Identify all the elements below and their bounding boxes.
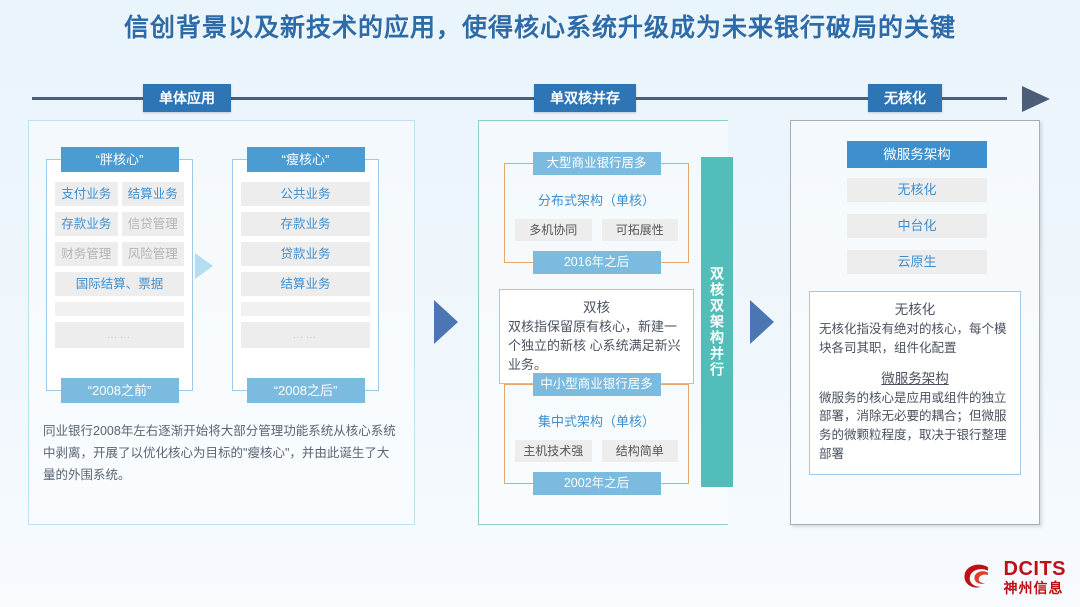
core-frame-thin: “瘦核心” 公共业务 存款业务 贷款业务 结算业务 …… “2008之后” xyxy=(232,159,379,391)
core-row: 国际结算、票据 xyxy=(55,272,184,296)
core-row: 结算业务 xyxy=(241,272,370,296)
connector-arrow-icon-1 xyxy=(434,300,458,344)
core-row: 存款业务 xyxy=(241,212,370,236)
core-row: 支付业务 结算业务 xyxy=(55,182,184,206)
coreless-note-title-2: 微服务架构 xyxy=(819,367,1011,387)
core-row: 贷款业务 xyxy=(241,242,370,266)
core-column-fat: “胖核心” 支付业务 结算业务 存款业务 信贷管理 财务管理 风险管理 国际结算… xyxy=(46,159,193,391)
core-chip[interactable]: 结算业务 xyxy=(122,182,185,206)
box-cap-top: 大型商业银行居多 xyxy=(533,152,661,175)
coreless-note: 无核化 无核化指没有绝对的核心，每个模块各司其职，组件化配置 微服务架构 微服务… xyxy=(809,291,1021,475)
coreless-note-body-2: 微服务的核心是应用或组件的独立部署，消除无必要的耦合；但微服务的微颗粒程度，取决… xyxy=(819,389,1011,464)
core-chip-blank xyxy=(241,302,370,316)
logo-name-en: DCITS xyxy=(1004,559,1067,579)
box-chip[interactable]: 多机协同 xyxy=(515,219,592,241)
dual-core-vertical-banner: 双核双架构并行 xyxy=(701,157,733,487)
core-row: …… xyxy=(55,322,184,348)
panel-dual-core: 大型商业银行居多 分布式架构（单核） 多机协同 可拓展性 2016年之后 双核 … xyxy=(478,120,728,525)
core-row xyxy=(55,302,184,316)
page-title: 信创背景以及新技术的应用，使得核心系统升级成为未来银行破局的关键 xyxy=(0,8,1080,44)
core-chip[interactable]: 财务管理 xyxy=(55,242,118,266)
coreless-chip[interactable]: 云原生 xyxy=(847,250,987,274)
core-chip[interactable]: 支付业务 xyxy=(55,182,118,206)
logo-text: DCITS 神州信息 xyxy=(1004,559,1067,595)
dual-core-box-small-bank: 中小型商业银行居多 集中式架构（单核） 主机技术强 结构简单 2002年之后 xyxy=(504,384,689,484)
logo-name-cn: 神州信息 xyxy=(1004,581,1067,595)
panel-monolithic-note: 同业银行2008年左右逐渐开始将大部分管理功能系统从核心系统中剥离，开展了以优化… xyxy=(43,421,400,487)
timeline-arrow-icon xyxy=(1022,86,1050,112)
brand-logo: DCITS 神州信息 xyxy=(961,559,1067,595)
box-chip[interactable]: 可拓展性 xyxy=(602,219,679,241)
dual-core-note-title: 双核 xyxy=(508,296,685,316)
timeline: 单体应用 单双核并存 无核化 xyxy=(32,84,1050,114)
core-chip[interactable]: 贷款业务 xyxy=(241,242,370,266)
core-chip[interactable]: 存款业务 xyxy=(55,212,118,236)
dual-core-box-large-bank: 大型商业银行居多 分布式架构（单核） 多机协同 可拓展性 2016年之后 xyxy=(504,163,689,263)
core-row: 存款业务 信贷管理 xyxy=(55,212,184,236)
transition-arrow-icon xyxy=(195,253,213,279)
coreless-note-title-1: 无核化 xyxy=(819,298,1011,318)
box-chip-row: 多机协同 可拓展性 xyxy=(505,219,688,241)
connector-arrow-icon-2 xyxy=(750,300,774,344)
core-chip-ellipsis: …… xyxy=(55,322,184,348)
box-chip[interactable]: 结构简单 xyxy=(602,440,679,462)
core-chip[interactable]: 结算业务 xyxy=(241,272,370,296)
core-row xyxy=(241,302,370,316)
box-cap-bottom: 2002年之后 xyxy=(533,472,661,495)
core-chip-blank xyxy=(55,302,184,316)
core-chip[interactable]: 风险管理 xyxy=(122,242,185,266)
core-chip[interactable]: 存款业务 xyxy=(241,212,370,236)
core-row: 财务管理 风险管理 xyxy=(55,242,184,266)
core-chip[interactable]: 国际结算、票据 xyxy=(55,272,184,296)
box-cap-top: 中小型商业银行居多 xyxy=(533,373,661,396)
core-chip[interactable]: 公共业务 xyxy=(241,182,370,206)
box-subtitle: 集中式架构（单核） xyxy=(505,411,688,430)
box-chip-row: 主机技术强 结构简单 xyxy=(505,440,688,462)
core-row: 公共业务 xyxy=(241,182,370,206)
box-subtitle: 分布式架构（单核） xyxy=(505,190,688,209)
dual-core-note: 双核 双核指保留原有核心，新建一个独立的新核 心系统满足新兴业务。 xyxy=(499,289,694,384)
core-chip[interactable]: 信贷管理 xyxy=(122,212,185,236)
panel-monolithic: “胖核心” 支付业务 结算业务 存款业务 信贷管理 财务管理 风险管理 国际结算… xyxy=(28,120,415,525)
core-cap-thin-top: “瘦核心” xyxy=(247,147,365,172)
coreless-note-body-1: 无核化指没有绝对的核心，每个模块各司其职，组件化配置 xyxy=(819,320,1011,358)
timeline-stage-0[interactable]: 单体应用 xyxy=(143,84,231,112)
timeline-stage-1[interactable]: 单双核并存 xyxy=(534,84,636,112)
box-chip[interactable]: 主机技术强 xyxy=(515,440,592,462)
core-row: …… xyxy=(241,322,370,348)
panel-coreless: 微服务架构 无核化 中台化 云原生 无核化 无核化指没有绝对的核心，每个模块各司… xyxy=(790,120,1040,525)
coreless-chip[interactable]: 中台化 xyxy=(847,214,987,238)
dual-core-note-body: 双核指保留原有核心，新建一个独立的新核 心系统满足新兴业务。 xyxy=(508,318,685,375)
microservice-header: 微服务架构 xyxy=(847,141,987,168)
coreless-chip[interactable]: 无核化 xyxy=(847,178,987,202)
core-cap-fat-bottom: “2008之前” xyxy=(61,378,179,403)
dcits-swirl-icon xyxy=(961,560,997,594)
core-cap-fat-top: “胖核心” xyxy=(61,147,179,172)
core-frame-fat: “胖核心” 支付业务 结算业务 存款业务 信贷管理 财务管理 风险管理 国际结算… xyxy=(46,159,193,391)
core-chip-ellipsis: …… xyxy=(241,322,370,348)
box-cap-bottom: 2016年之后 xyxy=(533,251,661,274)
core-column-thin: “瘦核心” 公共业务 存款业务 贷款业务 结算业务 …… “2008之后” xyxy=(232,159,379,391)
timeline-stage-2[interactable]: 无核化 xyxy=(868,84,942,112)
core-cap-thin-bottom: “2008之后” xyxy=(247,378,365,403)
